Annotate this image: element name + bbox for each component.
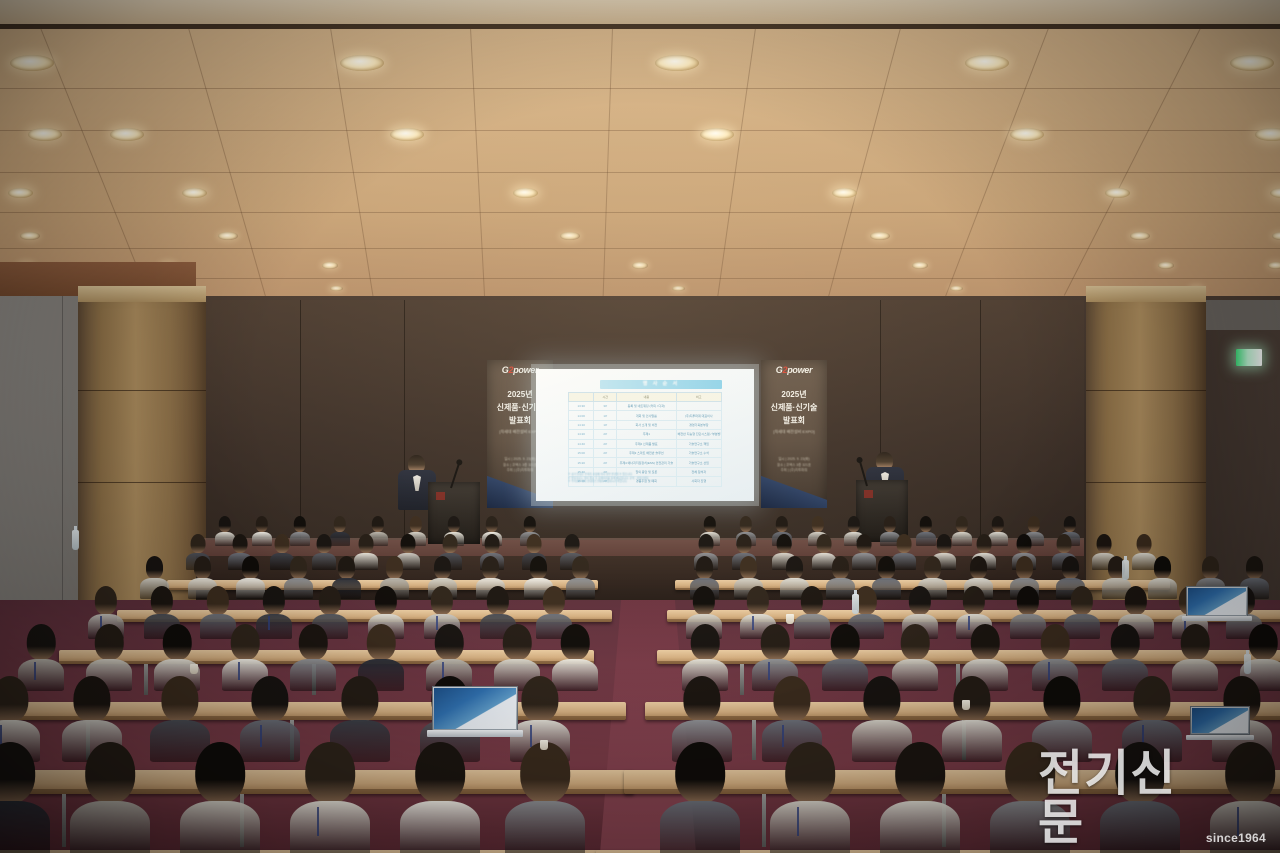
slide-table-cell: 15:00 — [569, 448, 594, 457]
slide-table-cell: 14:10 — [569, 420, 594, 429]
audience-head — [956, 516, 968, 532]
ceiling-downlight — [1158, 262, 1174, 269]
audience-person — [962, 624, 1008, 682]
slide-table-cell: 주제4 에너지저장장치(ESS) 안전관리 기술 — [617, 458, 677, 467]
audience-head — [317, 534, 332, 553]
ceiling-downlight — [870, 232, 890, 240]
slide-table-row: 13:3030'등록 및 네트워킹 (커피 / 다과) — [569, 402, 722, 411]
ceiling-downlight — [1270, 188, 1280, 198]
audience-person — [1102, 624, 1148, 682]
ceiling-downlight — [322, 262, 338, 269]
audience-torso — [400, 801, 480, 853]
slide-col-header: 비고 — [676, 393, 721, 402]
audience-head — [920, 516, 932, 532]
audience-person — [18, 624, 64, 682]
ceiling-downlight — [655, 55, 699, 71]
audience-head — [448, 516, 460, 532]
slide-table-cell — [676, 402, 721, 411]
ceiling-downlight — [560, 232, 580, 240]
audience-head — [817, 534, 832, 553]
lanyard — [268, 616, 270, 630]
audience-head — [801, 586, 823, 615]
audience-person — [752, 624, 798, 682]
banner-right: G2power 2025년 신제품·신기술 발표회 [차세대 배전설비 EXPO… — [761, 360, 827, 508]
audience-head — [191, 534, 206, 553]
audience-head — [0, 676, 29, 722]
projection-screen: 행 사 순 서 시간내용비고 13:3030'등록 및 네트워킹 (커피 / 다… — [536, 369, 754, 501]
audience-head — [482, 556, 500, 579]
audience-head — [971, 624, 1000, 660]
audience-person — [942, 676, 1002, 750]
audience-head — [0, 742, 35, 803]
ceiling-downlight — [672, 286, 685, 291]
audience-head — [290, 556, 308, 579]
audience-head — [747, 586, 769, 615]
audience-head — [776, 516, 788, 532]
audience-head — [524, 516, 536, 532]
slide-col-header: 시간 — [594, 393, 617, 402]
audience-person — [552, 624, 598, 682]
audience-person — [660, 742, 740, 840]
audience-head — [85, 742, 135, 803]
audience-head — [520, 742, 570, 803]
audience-person — [330, 676, 390, 750]
audience-person — [62, 676, 122, 750]
audience-person — [290, 742, 370, 840]
audience-head — [1017, 534, 1032, 553]
audience-head — [897, 534, 912, 553]
audience-head — [233, 534, 248, 553]
ceiling-seam — [0, 130, 1280, 131]
audience-head — [963, 586, 985, 615]
audience-head — [992, 516, 1004, 532]
paper-cup — [962, 700, 970, 710]
audience-head — [786, 556, 804, 579]
conference-photo: G2power 2025년 신제품·신기술 발표회 [차세대 배전설비 EXPO… — [0, 0, 1280, 853]
audience-head — [1154, 556, 1172, 579]
slide-table-cell: (주)지투파워 대표이사 — [676, 411, 721, 420]
audience-head — [1043, 676, 1080, 722]
audience-person — [494, 624, 540, 682]
slide-table-cell: 14:20 — [569, 430, 594, 439]
audience-head — [251, 676, 288, 722]
slide-table-cell: 20' — [594, 439, 617, 448]
audience-head — [434, 556, 452, 579]
audience-head — [561, 624, 590, 660]
audience-head — [812, 516, 824, 532]
slide-table-cell: 등록 및 네트워킹 (커피 / 다과) — [617, 402, 677, 411]
slide-table-cell: 기술연구소 책임 — [676, 439, 721, 448]
audience-head — [884, 516, 896, 532]
audience-person — [510, 676, 570, 750]
audience-person — [0, 676, 40, 750]
audience-head — [410, 516, 422, 532]
audience-head — [773, 676, 810, 722]
banner-right-line2: 발표회 — [761, 415, 827, 426]
audience-head — [565, 534, 580, 553]
audience-person — [70, 742, 150, 840]
audience-head — [1225, 742, 1275, 803]
audience-head — [572, 556, 590, 579]
audience-head — [691, 624, 720, 660]
ceiling-seam — [1064, 28, 1201, 296]
audience-head — [486, 516, 498, 532]
ceiling-seam — [822, 28, 901, 318]
slide-footnote-line: ※ 주차권은 행사 안내데스크에서 수령하시기 바랍니다. — [568, 480, 726, 484]
banner-right-brand: G2power — [761, 365, 827, 375]
slide-col-header: 내용 — [617, 393, 677, 402]
ceiling-downlight — [1010, 128, 1044, 141]
audience-person — [682, 624, 728, 682]
lanyard — [317, 807, 319, 836]
audience-person — [1032, 624, 1078, 682]
audience-head — [503, 624, 532, 660]
ceiling-downlight — [20, 232, 40, 240]
slide-table-row: 15:0020'주제3 스마트 배전반 솔루션기술연구소 수석 — [569, 448, 722, 457]
ceiling-downlight — [700, 128, 734, 141]
banner-right-line1: 신제품·신기술 — [761, 402, 827, 413]
ceiling-downlight — [513, 188, 538, 198]
audience-torso — [0, 801, 50, 853]
water-bottle — [1122, 560, 1129, 580]
slide-table-row: 14:2020'주제1배전반 지능형 진단시스템 / 부분방전 진단 · 열화상… — [569, 430, 722, 439]
ceiling-downlight — [28, 128, 62, 141]
audience-torso — [252, 532, 272, 547]
audience-torso — [880, 801, 960, 853]
slide-table-cell: 10' — [594, 420, 617, 429]
audience-head — [1246, 556, 1264, 579]
audience-head — [1017, 586, 1039, 615]
audience-head — [415, 742, 465, 803]
ceiling-upper-strip — [0, 0, 1280, 26]
audience-torso — [505, 801, 585, 853]
watermark: 전기신문 since1964 — [1038, 796, 1266, 848]
slide-table-row: 14:4020'주제2 신제품 발표기술연구소 책임 — [569, 439, 722, 448]
ceiling-downlight — [950, 286, 963, 291]
laptop — [1186, 586, 1248, 630]
audience-head — [163, 624, 192, 660]
audience-head — [977, 534, 992, 553]
slide-table-row: 14:1010'회사 소개 및 비전경영기획본부장 — [569, 420, 722, 429]
audience-head — [151, 586, 173, 615]
ceiling-downlight — [1268, 262, 1280, 269]
slide-table-cell: 14:00 — [569, 411, 594, 420]
laptop — [1190, 706, 1250, 748]
audience-head — [1249, 624, 1278, 660]
audience-head — [341, 676, 378, 722]
audience-person — [822, 624, 868, 682]
audience-head — [1202, 556, 1220, 579]
audience-head — [693, 586, 715, 615]
audience-person — [86, 624, 132, 682]
audience-head — [485, 534, 500, 553]
audience-head — [431, 586, 453, 615]
ceiling-downlight — [1130, 232, 1150, 240]
ceiling-seam — [330, 28, 378, 324]
slide-table-cell: 주제1 — [617, 430, 677, 439]
audience-head — [275, 534, 290, 553]
audience-person — [880, 742, 960, 840]
audience-head — [367, 624, 396, 660]
ceiling-downlight — [218, 232, 238, 240]
audience-head — [895, 742, 945, 803]
water-bottle — [852, 594, 859, 614]
slide-table-cell: 회사 소개 및 비전 — [617, 420, 677, 429]
audience-head — [761, 624, 790, 660]
audience-head — [970, 556, 988, 579]
slide-table-row: 15:2020'주제4 에너지저장장치(ESS) 안전관리 기술기술연구소 선임 — [569, 458, 722, 467]
audience-head — [1057, 534, 1072, 553]
banner-right-subtitle: [차세대 배전설비 EXPO] — [761, 429, 827, 435]
audience-head — [263, 586, 285, 615]
paper-cup — [786, 614, 794, 624]
audience-head — [161, 676, 198, 722]
audience-torso — [660, 801, 740, 853]
audience-head — [953, 676, 990, 722]
lanyard — [260, 725, 262, 747]
ceiling-downlight — [1105, 188, 1130, 198]
slide-table-cell: 주제2 신제품 발표 — [617, 439, 677, 448]
audience-head — [443, 534, 458, 553]
slide-table-row: 14:0010'개회 및 인사말씀(주)지투파워 대표이사 — [569, 411, 722, 420]
audience-head — [1062, 556, 1080, 579]
audience-head — [305, 742, 355, 803]
desk-leg — [762, 794, 766, 847]
audience-person — [222, 624, 268, 682]
slide-table-cell: 주제3 스마트 배전반 솔루션 — [617, 448, 677, 457]
audience-head — [831, 624, 860, 660]
slide-table-cell: 개회 및 인사말씀 — [617, 411, 677, 420]
ceiling-shadow-gap — [0, 24, 1280, 29]
audience-person — [400, 742, 480, 840]
slide-col-header — [569, 393, 594, 402]
audience-head — [848, 516, 860, 532]
audience-head — [207, 586, 229, 615]
audience-head — [740, 556, 758, 579]
slide-table-cell: 20' — [594, 458, 617, 467]
paper-cup — [540, 740, 548, 750]
audience-head — [27, 624, 56, 660]
audience-person — [180, 742, 260, 840]
audience-person — [0, 742, 50, 840]
ceiling-seam — [602, 28, 613, 328]
slide-title: 행 사 순 서 — [600, 380, 722, 389]
ceiling-downlight — [330, 286, 343, 291]
slide-footnotes: ※ 상기 일정은 주최측 사정에 따라 일부 변경될 수 있습니다. ※ 발표자… — [568, 473, 726, 484]
audience-head — [696, 556, 714, 579]
audience-head — [242, 556, 260, 579]
slide-table-cell: 배전반 지능형 진단시스템 / 부분방전 진단 · 열화상 복합진단 기술 / … — [676, 430, 721, 439]
audience-head — [1016, 556, 1034, 579]
lanyard — [797, 807, 799, 836]
watermark-text: 전기신문 — [1038, 750, 1203, 848]
ceiling-downlight — [10, 55, 54, 71]
audience-person — [150, 676, 210, 750]
audience-head — [294, 516, 306, 532]
audience-person — [1172, 624, 1218, 682]
audience-head — [219, 516, 231, 532]
audience-person — [252, 516, 272, 542]
audience-head — [1064, 516, 1076, 532]
audience-head — [924, 556, 942, 579]
audience-person — [358, 624, 404, 682]
audience-head — [386, 556, 404, 579]
slide-table-cell: 13:30 — [569, 402, 594, 411]
audience-head — [95, 624, 124, 660]
audience-head — [863, 676, 900, 722]
audience-head — [530, 556, 548, 579]
paper-cup — [190, 664, 198, 674]
audience-head — [785, 742, 835, 803]
ceiling-downlight — [390, 128, 424, 141]
audience-head — [256, 516, 268, 532]
audience-head — [334, 516, 346, 532]
audience-head — [777, 534, 792, 553]
audience-torso — [180, 801, 260, 853]
audience-head — [909, 586, 931, 615]
audience-head — [1028, 516, 1040, 532]
slide-table-cell: 20' — [594, 448, 617, 457]
audience-person — [426, 624, 472, 682]
audience-head — [737, 534, 752, 553]
desk-leg — [740, 664, 744, 695]
audience-person — [240, 676, 300, 750]
emergency-exit-sign — [1236, 349, 1262, 366]
ceiling-downlight — [340, 55, 384, 71]
audience-head — [937, 534, 952, 553]
audience-head — [195, 742, 245, 803]
audience-torso — [70, 801, 150, 853]
audience-person — [770, 742, 850, 840]
audience-head — [95, 586, 117, 615]
ceiling-downlight — [182, 188, 207, 198]
audience-head — [375, 586, 397, 615]
slide-table-cell: 15:20 — [569, 458, 594, 467]
ceiling-downlight — [1230, 55, 1274, 71]
slide-table-cell: 30' — [594, 402, 617, 411]
water-bottle — [72, 530, 79, 550]
ceiling-seam — [470, 28, 487, 328]
desk-leg — [752, 720, 756, 760]
desk-leg — [62, 794, 66, 847]
ceiling-downlight — [1272, 232, 1280, 240]
audience-person — [505, 742, 585, 840]
audience-head — [1041, 624, 1070, 660]
audience-head — [401, 534, 416, 553]
audience-head — [704, 516, 716, 532]
ceiling-downlight — [1255, 128, 1280, 141]
audience-head — [675, 742, 725, 803]
ceiling-downlight — [632, 262, 648, 269]
audience-head — [857, 534, 872, 553]
audience-head — [372, 516, 384, 532]
ceiling-downlight — [8, 188, 33, 198]
watermark-since: since1964 — [1206, 831, 1266, 845]
audience-head — [194, 556, 212, 579]
audience-head — [435, 624, 464, 660]
audience-person — [852, 676, 912, 750]
ceiling-seam — [0, 172, 1280, 173]
slide-table-cell: 10' — [594, 411, 617, 420]
slide-table-cell: 14:40 — [569, 439, 594, 448]
audience-torso — [290, 801, 370, 853]
ceiling-seam — [0, 212, 1280, 213]
slide-table-cell: 기술연구소 선임 — [676, 458, 721, 467]
banner-right-wedge — [761, 472, 827, 508]
banner-right-year: 2025년 — [761, 389, 827, 400]
audience-person — [1122, 676, 1182, 750]
audience-head — [319, 586, 341, 615]
audience-head — [231, 624, 260, 660]
audience-person — [672, 676, 732, 750]
ceiling-downlight — [832, 188, 857, 198]
audience-head — [521, 676, 558, 722]
audience-head — [487, 586, 509, 615]
audience-head — [699, 534, 714, 553]
audience-person — [290, 624, 336, 682]
audience-head — [338, 556, 356, 579]
audience-head — [878, 556, 896, 579]
slide-table-cell: 경영기획본부장 — [676, 420, 721, 429]
audience-head — [1111, 624, 1140, 660]
audience-head — [359, 534, 374, 553]
slide-table-cell: 기술연구소 수석 — [676, 448, 721, 457]
audience-head — [527, 534, 542, 553]
audience-head — [1125, 586, 1147, 615]
laptop — [432, 686, 518, 750]
audience-head — [543, 586, 565, 615]
audience-torso — [770, 801, 850, 853]
audience-person — [1032, 676, 1092, 750]
ceiling-downlight — [110, 128, 144, 141]
desk-leg — [144, 664, 148, 695]
ceiling-downlight — [912, 262, 928, 269]
slide-table-cell: 20' — [594, 430, 617, 439]
ceiling-downlight — [965, 55, 1009, 71]
slide-title-bar: 행 사 순 서 — [600, 380, 722, 389]
audience-head — [73, 676, 110, 722]
water-bottle — [1244, 654, 1251, 674]
audience-head — [740, 516, 752, 532]
audience-person — [892, 624, 938, 682]
audience-head — [1097, 534, 1112, 553]
ceiling-wood-panels — [0, 0, 1280, 300]
audience-head — [299, 624, 328, 660]
audience-head — [146, 556, 164, 579]
audience-head — [1133, 676, 1170, 722]
audience-head — [1071, 586, 1093, 615]
audience-head — [683, 676, 720, 722]
ceiling-seam — [0, 88, 1280, 89]
audience-head — [901, 624, 930, 660]
audience-person — [762, 676, 822, 750]
ceiling-seam — [713, 28, 756, 325]
audience-head — [1137, 534, 1152, 553]
audience-head — [832, 556, 850, 579]
